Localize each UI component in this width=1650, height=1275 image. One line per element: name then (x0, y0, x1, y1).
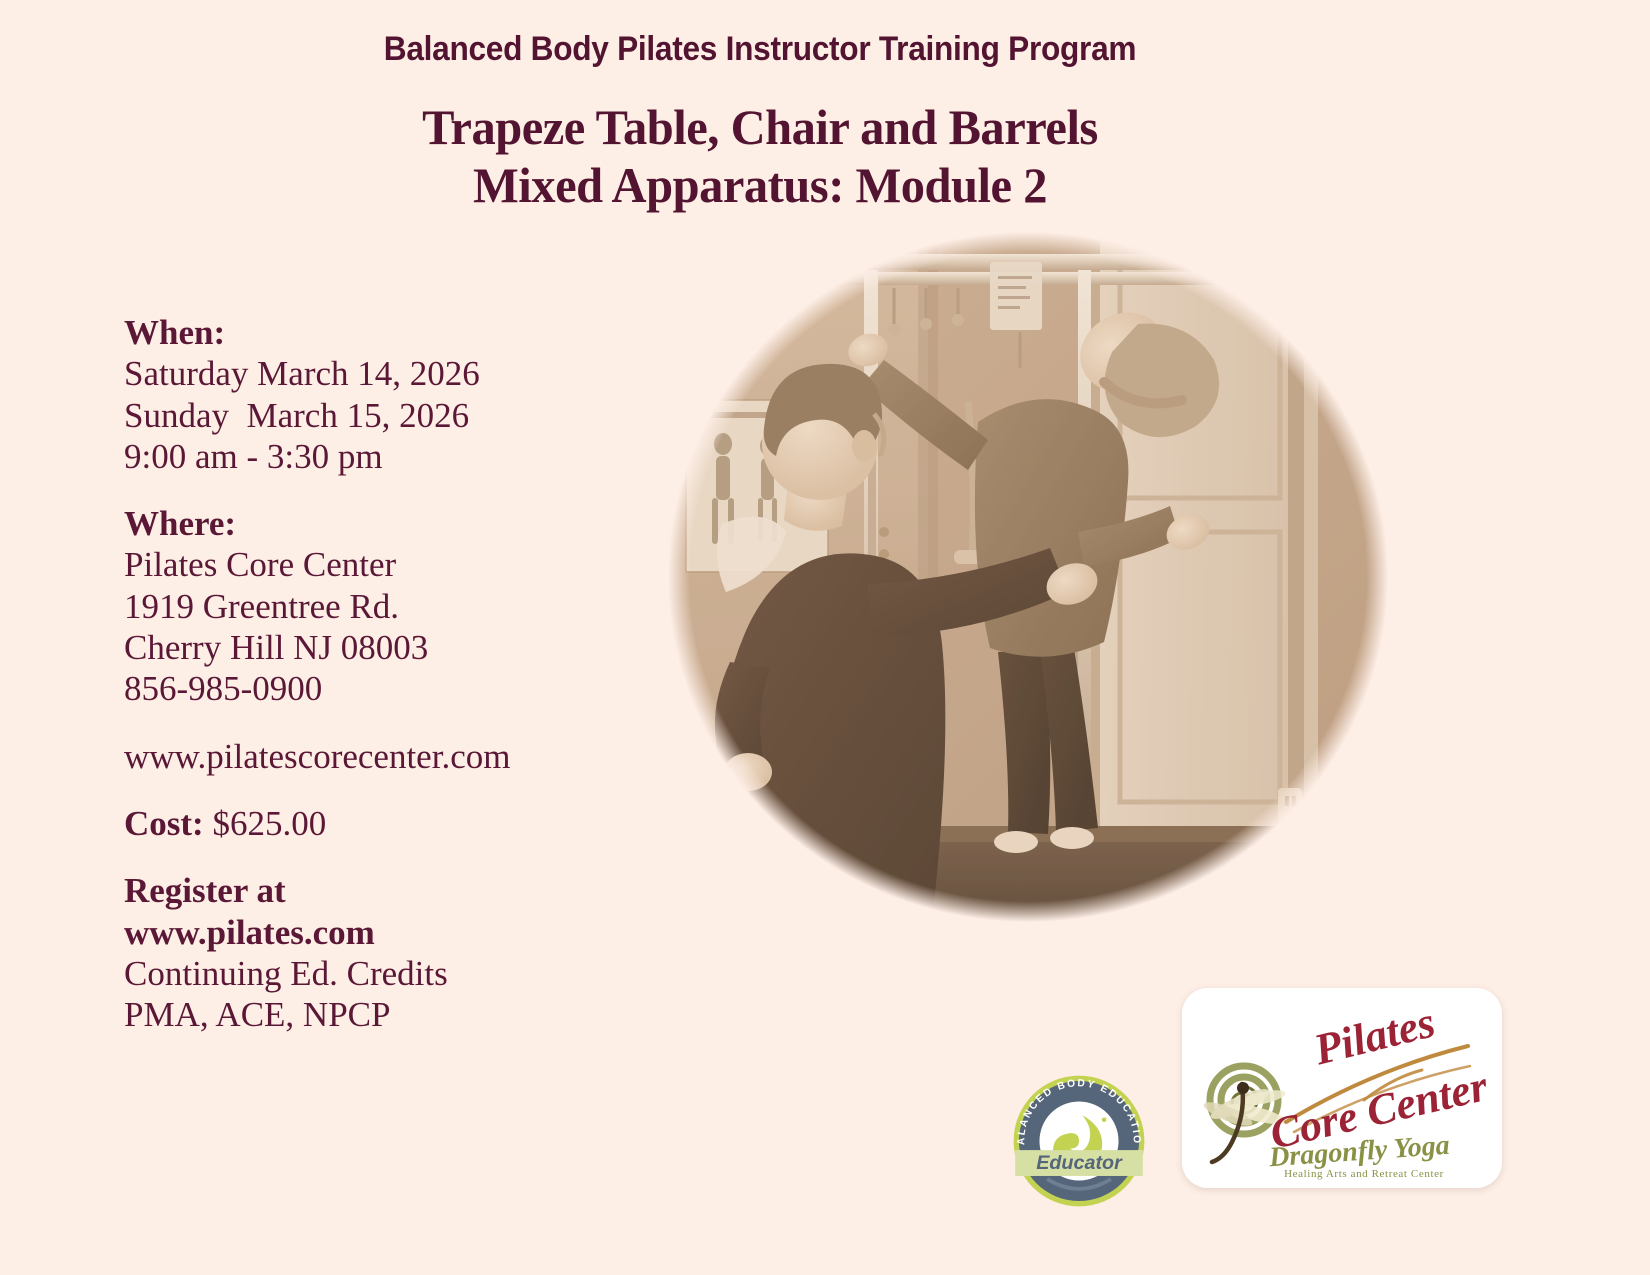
credits-line-1: Continuing Ed. Credits (124, 953, 644, 994)
logo-graphic: Pilates Core Center Dragonfly Yoga Heali… (1182, 988, 1502, 1188)
credits-line-2: PMA, ACE, NPCP (124, 994, 644, 1035)
logo-tagline: Healing Arts and Retreat Center (1284, 1168, 1444, 1180)
title-line-1: Trapeze Table, Chair and Barrels (23, 98, 1497, 156)
event-details: When: Saturday March 14, 2026 Sunday Mar… (124, 312, 644, 1035)
program-line: Balanced Body Pilates Instructor Trainin… (53, 30, 1467, 69)
register-block: Register at www.pilates.com Continuing E… (124, 870, 644, 1035)
when-block: When: Saturday March 14, 2026 Sunday Mar… (124, 312, 644, 477)
when-date-2: Sunday March 15, 2026 (124, 395, 644, 436)
page-title: Trapeze Table, Chair and Barrels Mixed A… (0, 98, 1520, 214)
workshop-photo (668, 232, 1388, 922)
cost-value: $625.00 (212, 804, 326, 843)
badge-banner-text: Educator (1036, 1152, 1123, 1174)
venue-website-link[interactable]: www.pilatescorecenter.com (124, 736, 644, 777)
when-time: 9:00 am - 3:30 pm (124, 436, 644, 477)
venue-city-state-zip: Cherry Hill NJ 08003 (124, 627, 644, 668)
cost-label: Cost: (124, 804, 204, 843)
pilates-core-center-logo: Pilates Core Center Dragonfly Yoga Heali… (1182, 988, 1502, 1188)
title-line-2: Mixed Apparatus: Module 2 (23, 156, 1497, 214)
where-block: Where: Pilates Core Center 1919 Greentre… (124, 503, 644, 709)
badge-graphic: BALANCED BODY EDUCATION Educator (1003, 1065, 1155, 1217)
photo-illustration (668, 232, 1388, 922)
flyer-canvas: Balanced Body Pilates Instructor Trainin… (0, 0, 1650, 1275)
where-label: Where: (124, 503, 644, 544)
photo-frame (668, 232, 1388, 922)
website-block: www.pilatescorecenter.com (124, 736, 644, 777)
venue-phone: 856-985-0900 (124, 668, 644, 709)
when-date-1: Saturday March 14, 2026 (124, 353, 644, 394)
venue-street: 1919 Greentree Rd. (124, 586, 644, 627)
when-label: When: (124, 312, 644, 353)
cost-block: Cost: $625.00 (124, 803, 644, 844)
register-link[interactable]: www.pilates.com (124, 912, 644, 953)
venue-name: Pilates Core Center (124, 544, 644, 585)
register-label: Register at (124, 870, 644, 911)
balanced-body-educator-badge: BALANCED BODY EDUCATION Educator (1003, 1065, 1155, 1217)
